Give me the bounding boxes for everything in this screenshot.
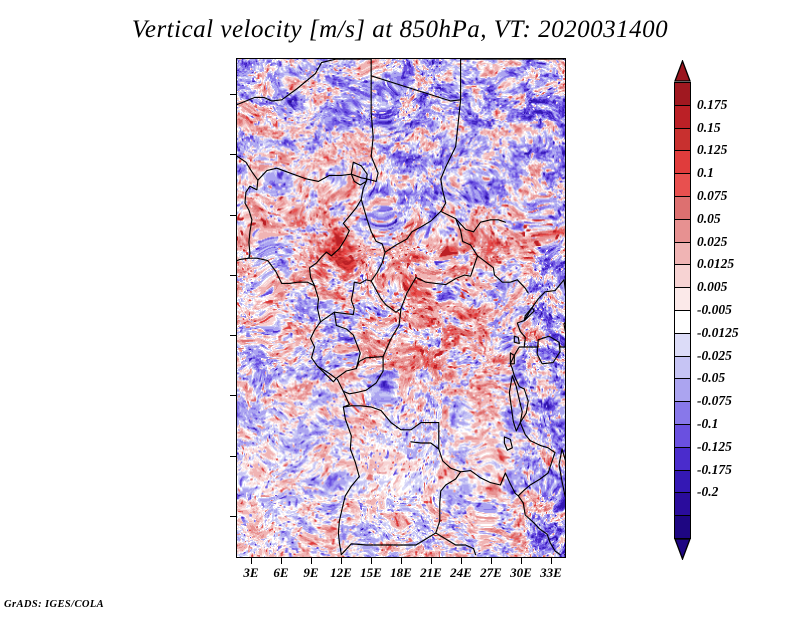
colorbar-band (674, 424, 691, 448)
y-axis-tick (230, 94, 236, 95)
colorbar-tick-label: 0.1 (697, 166, 714, 180)
border-polyline (310, 179, 368, 286)
x-axis-tick (401, 558, 402, 564)
x-axis-tick (431, 558, 432, 564)
colorbar-tick-label: -0.025 (697, 349, 732, 363)
colorbar-tick-label: 0.025 (697, 235, 727, 249)
colorbar-tick-label: -0.2 (697, 485, 718, 499)
x-axis-tick (341, 558, 342, 564)
border-polyline (343, 309, 401, 394)
colorbar-band (674, 82, 691, 106)
border-polyline (311, 286, 360, 555)
border-polyline (258, 168, 351, 181)
x-axis-tick (551, 558, 552, 564)
border-polyline (351, 76, 378, 182)
border-polyline (411, 442, 439, 449)
colorbar-tick-label: -0.005 (697, 303, 732, 317)
colorbar-tick-label: 0.125 (697, 143, 727, 157)
colorbar-tick-label: 0.05 (697, 212, 721, 226)
border-polyline (517, 280, 564, 347)
border-polyline (461, 423, 555, 496)
colorbar-band (674, 378, 691, 402)
grads-attribution: GrADS: IGES/COLA (4, 599, 104, 610)
colorbar-min-arrow (674, 538, 691, 560)
colorbar-band (674, 264, 691, 288)
map-plot-area (236, 58, 566, 558)
colorbar-tick-label: 0.075 (697, 189, 727, 203)
border-polyline (237, 258, 315, 286)
colorbar-band (674, 356, 691, 380)
colorbar-band (674, 196, 691, 220)
colorbar-band (674, 310, 691, 334)
border-polyline (518, 496, 560, 555)
x-axis-tick (521, 558, 522, 564)
border-polyline (351, 162, 367, 185)
colorbar-band (674, 105, 691, 129)
y-axis-tick (230, 335, 236, 336)
colorbar-max-arrow (674, 60, 691, 82)
border-polyline (514, 336, 519, 343)
border-polyline (474, 549, 476, 555)
x-axis-tick (281, 558, 282, 564)
x-axis-label: 33E (531, 565, 571, 581)
colorbar-tick-label: 0.0125 (697, 257, 734, 271)
colorbar-band (674, 333, 691, 357)
border-polyline (436, 533, 474, 549)
colorbar-tick-label: -0.0125 (697, 326, 739, 340)
x-axis-tick (311, 558, 312, 564)
border-polyline (237, 156, 258, 258)
y-axis-tick (230, 154, 236, 155)
border-polyline (559, 280, 565, 347)
colorbar: 0.1750.150.1250.10.0750.050.0250.01250.0… (670, 60, 694, 560)
colorbar-band (674, 242, 691, 266)
border-polyline (361, 199, 371, 231)
colorbar-band (674, 287, 691, 311)
border-polyline (320, 232, 385, 322)
border-polyline (237, 59, 336, 105)
colorbar-band (674, 492, 691, 516)
y-axis-tick (230, 395, 236, 396)
border-polyline (343, 406, 460, 472)
colorbar-band (674, 173, 691, 197)
border-polyline (385, 100, 461, 252)
colorbar-tick-label: -0.125 (697, 440, 732, 454)
border-polyline (341, 472, 460, 555)
x-axis-tick (251, 558, 252, 564)
colorbar-band (674, 515, 691, 539)
colorbar-tick-label: 0.15 (697, 121, 721, 135)
colorbar-band (674, 150, 691, 174)
border-polyline (504, 437, 512, 450)
colorbar-band (674, 128, 691, 152)
border-polyline (334, 312, 360, 368)
y-axis-tick (230, 275, 236, 276)
colorbar-tick-label: -0.05 (697, 371, 725, 385)
colorbar-tick-label: -0.175 (697, 463, 732, 477)
colorbar-tick-label: 0.175 (697, 98, 727, 112)
country-borders-overlay (237, 59, 565, 557)
colorbar-tick-label: 0.005 (697, 280, 727, 294)
x-axis-tick (491, 558, 492, 564)
colorbar-band (674, 470, 691, 494)
border-polyline (318, 357, 384, 382)
colorbar-tick-label: -0.075 (697, 394, 732, 408)
border-polyline (441, 211, 506, 231)
x-axis-tick (371, 558, 372, 564)
border-polyline (559, 449, 565, 505)
y-axis-tick (230, 456, 236, 457)
border-polyline (537, 336, 560, 364)
x-axis-tick (461, 558, 462, 564)
page-title: Vertical velocity [m/s] at 850hPa, VT: 2… (0, 16, 800, 44)
colorbar-band (674, 447, 691, 471)
colorbar-tick-label: -0.1 (697, 417, 718, 431)
y-axis-tick (230, 516, 236, 517)
y-axis-tick (230, 215, 236, 216)
colorbar-band (674, 401, 691, 425)
border-polyline (371, 256, 477, 312)
colorbar-band (674, 219, 691, 243)
